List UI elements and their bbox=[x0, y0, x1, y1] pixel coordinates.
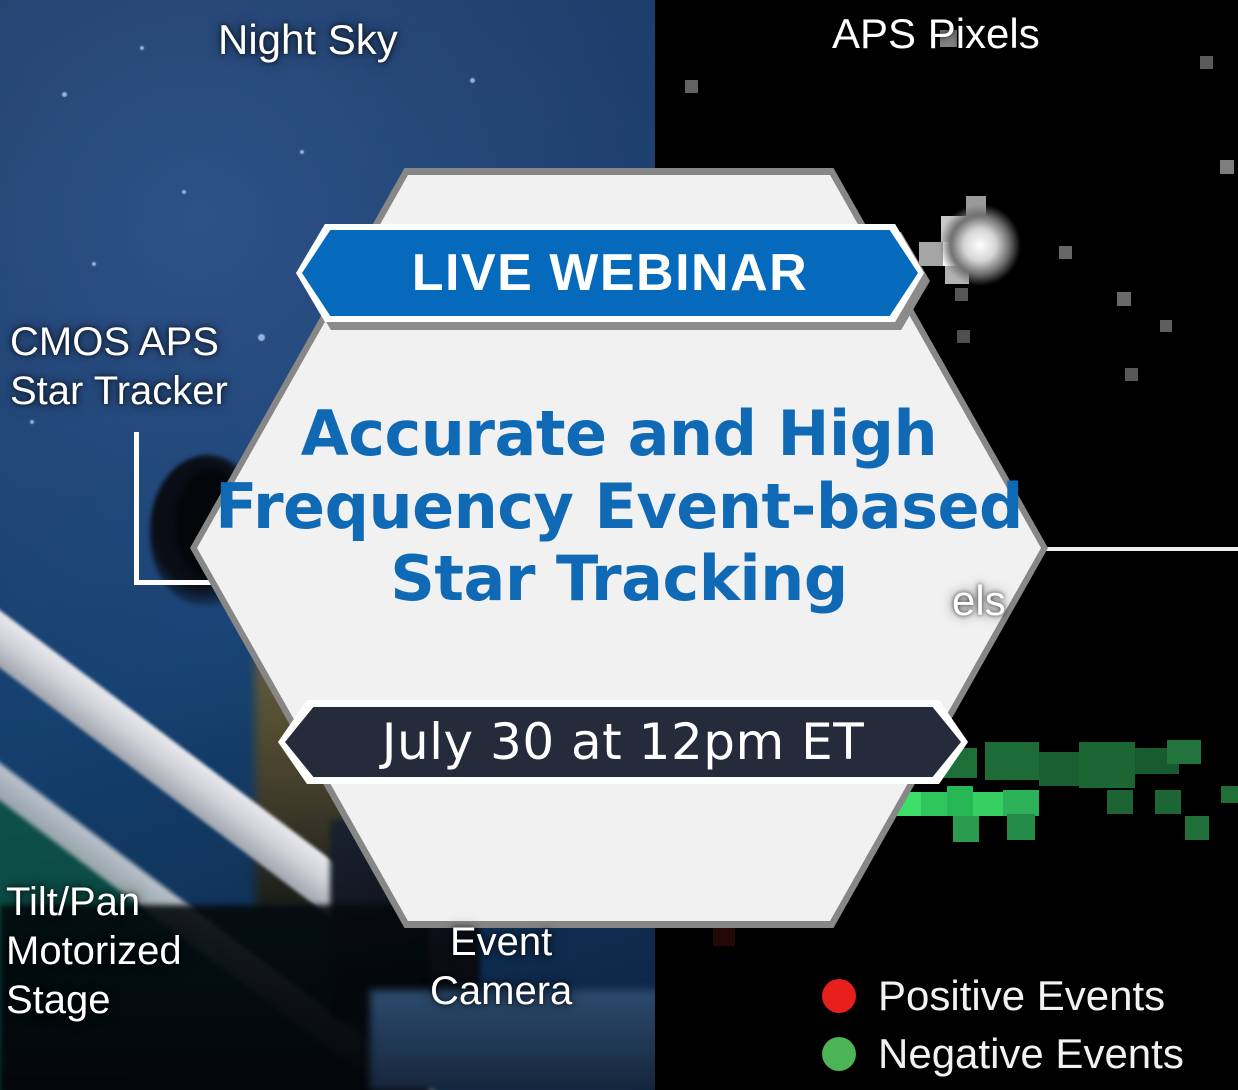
label-cmos-aps-star-tracker: CMOS APS Star Tracker bbox=[10, 318, 228, 416]
label-aps-pixels: APS Pixels bbox=[832, 8, 1040, 59]
live-webinar-badge: LIVE WEBINAR bbox=[302, 230, 918, 316]
positive-events-label: Positive Events bbox=[878, 972, 1165, 1020]
live-webinar-label: LIVE WEBINAR bbox=[412, 243, 808, 303]
label-event-camera: Event Camera bbox=[430, 918, 572, 1016]
positive-events-dot bbox=[822, 979, 856, 1013]
negative-events-dot bbox=[822, 1037, 856, 1071]
title-line-2: Frequency Event-based bbox=[208, 471, 1030, 544]
webinar-date-label: July 30 at 12pm ET bbox=[382, 713, 865, 771]
negative-events-label: Negative Events bbox=[878, 1030, 1184, 1078]
webinar-title: Accurate and High Frequency Event-based … bbox=[208, 398, 1030, 616]
legend-item: Negative Events bbox=[822, 1030, 1184, 1078]
title-line-1: Accurate and High bbox=[208, 398, 1030, 471]
label-event-pixels-occluded: els bbox=[952, 575, 1006, 626]
legend-item: Positive Events bbox=[822, 972, 1184, 1020]
webinar-promo-graphic: LIVE WEBINAR Accurate and High Frequency… bbox=[0, 0, 1238, 1090]
leader-line-vertical bbox=[134, 432, 139, 584]
event-polarity-legend: Positive Events Negative Events bbox=[822, 972, 1184, 1078]
webinar-date-badge: July 30 at 12pm ET bbox=[285, 707, 961, 777]
label-night-sky: Night Sky bbox=[218, 14, 398, 65]
label-tilt-pan-motorized-stage: Tilt/Pan Motorized Stage bbox=[6, 878, 182, 1024]
title-line-3: Star Tracking bbox=[208, 543, 1030, 616]
